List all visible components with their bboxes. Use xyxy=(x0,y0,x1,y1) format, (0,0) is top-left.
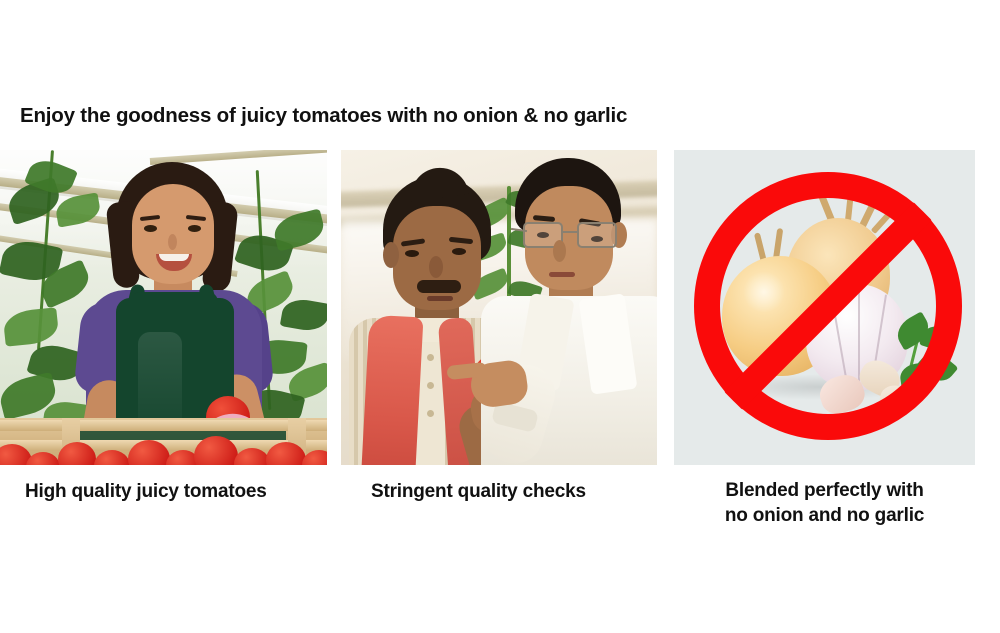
page-title: Enjoy the goodness of juicy tomatoes wit… xyxy=(20,104,627,128)
ear xyxy=(383,242,399,268)
promo-banner: Enjoy the goodness of juicy tomatoes wit… xyxy=(0,0,1000,633)
panel-no-onion-no-garlic xyxy=(674,150,975,465)
teeth xyxy=(159,254,189,261)
tomato xyxy=(234,448,270,465)
eye xyxy=(144,225,157,232)
tomato xyxy=(94,450,130,465)
no-onion-garlic-photo xyxy=(674,150,975,465)
panel-high-quality-juicy-tomatoes xyxy=(0,150,327,465)
crate-rail xyxy=(0,420,327,431)
kurta-button xyxy=(427,410,434,417)
kurta-button xyxy=(427,382,434,389)
farmer-scientist-photo xyxy=(341,150,657,465)
eye xyxy=(452,248,466,255)
caption-high-quality-juicy-tomatoes: High quality juicy tomatoes xyxy=(25,479,267,504)
crate-tomatoes xyxy=(0,442,327,465)
tomato xyxy=(58,442,96,465)
caption-line-1: Blended perfectly with xyxy=(674,478,975,503)
mouth xyxy=(427,296,453,301)
nose xyxy=(168,234,177,250)
eye xyxy=(188,225,201,232)
eyeglasses-icon xyxy=(523,222,619,248)
tomato xyxy=(266,442,306,465)
prohibition-sign-icon xyxy=(694,172,962,440)
caption-no-onion-no-garlic: Blended perfectly with no onion and no g… xyxy=(674,478,975,528)
tomato xyxy=(26,452,60,465)
lens xyxy=(577,222,617,248)
greenhouse-woman-photo xyxy=(0,150,327,465)
panel-stringent-quality-checks xyxy=(341,150,657,465)
caption-line-2: no onion and no garlic xyxy=(674,503,975,528)
caption-stringent-quality-checks: Stringent quality checks xyxy=(371,479,586,504)
bridge xyxy=(563,231,577,233)
tomato xyxy=(128,440,170,465)
scientist xyxy=(487,156,657,465)
kurta-button xyxy=(427,354,434,361)
moustache xyxy=(417,280,461,293)
nose xyxy=(429,256,443,278)
red-scarf xyxy=(361,315,424,465)
eye xyxy=(405,250,419,257)
nose xyxy=(553,240,566,262)
mouth xyxy=(549,272,575,277)
tomato xyxy=(302,450,327,465)
